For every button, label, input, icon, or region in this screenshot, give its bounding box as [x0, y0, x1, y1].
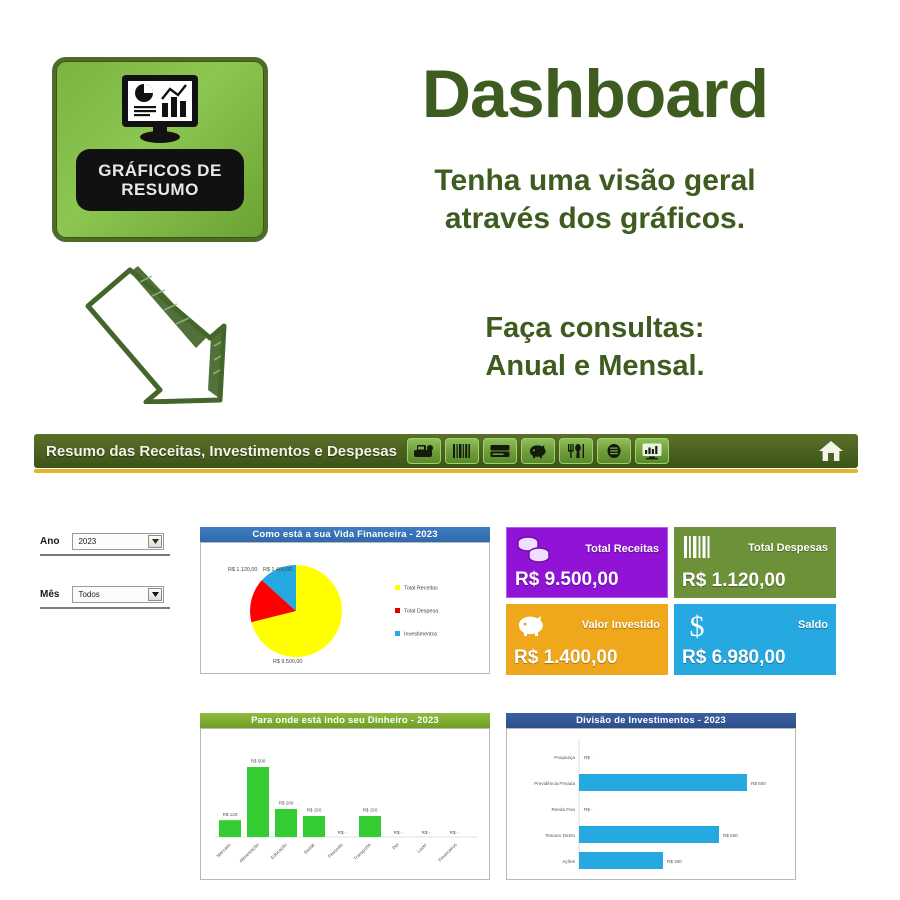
total-receitas-card-top: Total Receitas [515, 534, 659, 564]
svg-text:Investimentos: Investimentos [404, 632, 438, 638]
bar-value-mercado: R$ 120 [223, 812, 238, 817]
hand-drawn-down-right-arrow-icon [78, 262, 248, 404]
despesas-por-categoria-card: Para onde está indo seu Dinheiro - 2023 [200, 713, 490, 880]
promo-subtitle-line-2: através dos gráficos. [340, 200, 850, 238]
monitor-chart-icon [112, 73, 208, 147]
promo-cta: Faça consultas: Anual e Mensal. [340, 310, 850, 385]
barcode-icon[interactable] [445, 438, 479, 464]
despesas-por-categoria-body: R$ 120 R$ 500 R$ 200 R$ 150 R$ - R$ 150 … [200, 728, 490, 880]
coins-stack-icon[interactable] [597, 438, 631, 464]
bar-cat-educacao: Educação [270, 842, 288, 860]
bar-cat-pet: Pet [391, 842, 400, 851]
kpi-grid: Total Receitas R$ 9.500,00 [506, 527, 836, 675]
despesas-por-categoria-svg: R$ 120 R$ 500 R$ 200 R$ 150 R$ - R$ 150 … [201, 729, 489, 879]
promo-cta-line-2: Anual e Mensal. [340, 348, 850, 386]
bar-value-lazer: R$ - [422, 830, 431, 835]
page-title: Dashboard [330, 60, 860, 128]
inv-bar-previdencia [579, 774, 747, 791]
svg-text:$: $ [690, 610, 705, 641]
dollar-sign-icon: $ [682, 609, 712, 641]
month-filter-combobox[interactable]: Todos [72, 586, 164, 603]
bar-cat-transporte: Transporte [353, 842, 372, 861]
total-receitas-value: R$ 9.500,00 [515, 569, 659, 591]
inv-value-poupanca: R$ - [584, 755, 593, 760]
saldo-value: R$ 6.980,00 [682, 647, 828, 669]
saldo-label: Saldo [798, 619, 828, 631]
year-filter[interactable]: Ano 2023 [40, 533, 180, 556]
inv-value-acoes: R$ 300 [667, 859, 682, 864]
inv-cat-tesouro: Tesouro Direto [545, 833, 575, 838]
vida-financeira-pie-body: R$ 1.120,00 R$ 1.400,00 R$ 9.500,00 Tota… [200, 542, 490, 674]
app-title: Resumo das Receitas, Investimentos e Des… [34, 443, 397, 460]
inv-cat-renda-fixa: Renda Fixa [552, 807, 576, 812]
bar-cat-financeiros: Financeiros [437, 842, 458, 863]
bar-value-pet: R$ - [394, 830, 403, 835]
toolbar [407, 438, 669, 464]
despesas-por-categoria-title: Para onde está indo seu Dinheiro - 2023 [200, 713, 490, 728]
bar-cat-alimentacao: Alimentação [238, 842, 260, 864]
piggy-bank-icon [514, 611, 554, 639]
year-filter-label: Ano [40, 536, 68, 547]
divisao-investimentos-svg: Poupança Previdência Privada Renda Fixa … [507, 729, 795, 879]
cash-register-icon[interactable] [407, 438, 441, 464]
coins-stack-icon [515, 534, 553, 564]
inv-cat-acoes: Ações [562, 859, 575, 864]
bar-cat-mercado: Mercado [216, 842, 232, 858]
divisao-investimentos-title: Divisão de Investimentos - 2023 [506, 713, 796, 728]
pie-legend: Total Receitas Total Despesa Investiment… [395, 585, 438, 638]
year-filter-combobox[interactable]: 2023 [72, 533, 164, 550]
total-despesas-value: R$ 1.120,00 [682, 570, 828, 592]
total-despesas-card-top: Total Despesas [682, 533, 828, 563]
month-filter-underline [40, 607, 170, 609]
barcode-icon [682, 534, 720, 562]
pie-label-investimentos: R$ 1.400,00 [263, 567, 292, 573]
inv-value-tesouro: R$ 500 [723, 833, 738, 838]
divisao-investimentos-body: Poupança Previdência Privada Renda Fixa … [506, 728, 796, 880]
piggy-bank-icon[interactable] [521, 438, 555, 464]
month-filter-label: Mês [40, 589, 68, 600]
bar-value-educacao: R$ 200 [279, 801, 294, 806]
inv-cat-poupanca: Poupança [554, 755, 575, 760]
divisao-investimentos-card: Divisão de Investimentos - 2023 Poupança [506, 713, 796, 880]
vida-financeira-pie-card: Como está a sua Vida Financeira - 2023 [200, 527, 490, 674]
bar-cat-pessoais: Pessoais [327, 842, 344, 859]
inv-value-renda-fixa: R$ - [584, 807, 593, 812]
bar-value-transporte: R$ 150 [363, 808, 378, 813]
valor-investido-card-top: Valor Investido [514, 610, 660, 640]
promo-subtitle-line-1: Tenha uma visão geral [340, 162, 850, 200]
total-despesas-card[interactable]: Total Despesas R$ 1.120,00 [674, 527, 836, 598]
bar-value-financeiros: R$ - [450, 830, 459, 835]
cutlery-icon[interactable] [559, 438, 593, 464]
promo-cta-line-1: Faça consultas: [340, 310, 850, 348]
vida-financeira-pie-svg: R$ 1.120,00 R$ 1.400,00 R$ 9.500,00 Tota… [201, 543, 489, 673]
svg-text:Total Receitas: Total Receitas [404, 586, 438, 592]
bar-cat-lazer: Lazer [416, 842, 428, 854]
bar-value-pessoais: R$ - [338, 830, 347, 835]
bar-value-alimentacao: R$ 500 [251, 759, 266, 764]
valor-investido-card[interactable]: Valor Investido R$ 1.400,00 [506, 604, 668, 675]
bar-value-saude: R$ 150 [307, 808, 322, 813]
month-filter[interactable]: Mês Todos [40, 586, 180, 609]
filters-panel: Ano 2023 Mês Todos [40, 533, 180, 639]
promo-subtitle: Tenha uma visão geral através dos gráfic… [340, 162, 850, 239]
valor-investido-label: Valor Investido [582, 619, 660, 631]
saldo-card-top: $ Saldo [682, 610, 828, 640]
valor-investido-value: R$ 1.400,00 [514, 647, 660, 669]
year-filter-underline [40, 554, 170, 556]
logo-line-1: GRÁFICOS DE [98, 161, 222, 180]
logo-plate: GRÁFICOS DE RESUMO [76, 149, 244, 211]
titlebar-accent-bar [34, 469, 858, 473]
chevron-down-icon[interactable] [148, 588, 162, 601]
saldo-card[interactable]: $ Saldo R$ 6.980,00 [674, 604, 836, 675]
dashboard-app-screenshot: Resumo das Receitas, Investimentos e Des… [34, 434, 866, 852]
monitor-chart-icon[interactable] [635, 438, 669, 464]
bar-cat-saude: Saúde [303, 842, 316, 855]
inv-bar-tesouro [579, 826, 719, 843]
total-despesas-label: Total Despesas [748, 542, 828, 554]
inv-bar-acoes [579, 852, 663, 869]
chevron-down-icon[interactable] [148, 535, 162, 548]
pie-label-despesa: R$ 1.120,00 [228, 567, 257, 573]
card-list-icon[interactable] [483, 438, 517, 464]
app-titlebar: Resumo das Receitas, Investimentos e Des… [34, 434, 858, 468]
dashboard-page: GRÁFICOS DE RESUMO [0, 0, 900, 900]
vida-financeira-pie-title: Como está a sua Vida Financeira - 2023 [200, 527, 490, 542]
graficos-de-resumo-logo: GRÁFICOS DE RESUMO [52, 57, 268, 242]
logo-line-2: RESUMO [121, 180, 199, 199]
inv-cat-previdencia: Previdência Privada [534, 781, 575, 786]
total-receitas-card[interactable]: Total Receitas R$ 9.500,00 [506, 527, 668, 598]
pie-label-receitas: R$ 9.500,00 [273, 659, 302, 665]
home-icon[interactable] [818, 439, 844, 463]
promo-header: GRÁFICOS DE RESUMO [0, 0, 900, 428]
total-receitas-label: Total Receitas [585, 543, 659, 555]
svg-text:Total Despesa: Total Despesa [404, 609, 438, 615]
inv-value-previdencia: R$ 600 [751, 781, 766, 786]
